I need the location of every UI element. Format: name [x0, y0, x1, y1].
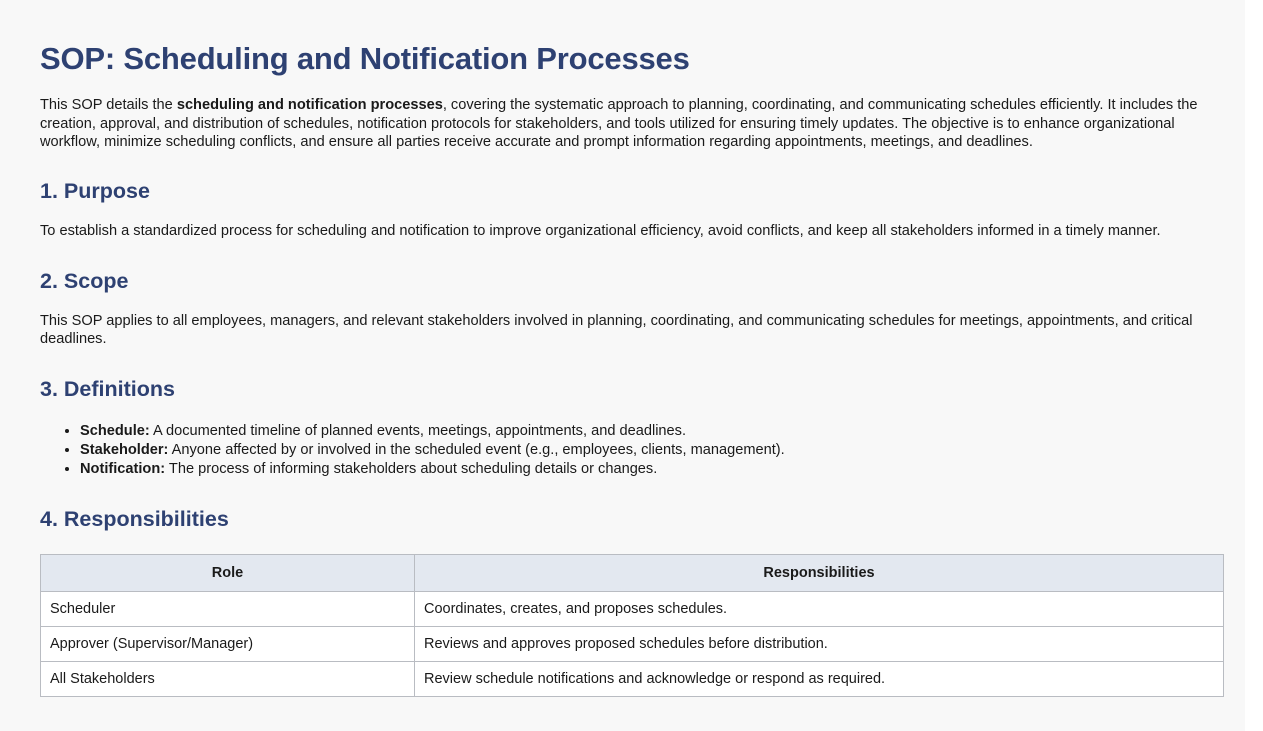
cell-role: Approver (Supervisor/Manager) [41, 627, 415, 662]
list-item: Schedule: A documented timeline of plann… [80, 422, 1222, 441]
definition-term: Schedule: [80, 423, 150, 439]
intro-text-pre: This SOP details the [40, 97, 177, 113]
section-body-purpose: To establish a standardized process for … [40, 222, 1222, 241]
definition-term: Notification: [80, 461, 165, 477]
list-item: Notification: The process of informing s… [80, 460, 1222, 479]
list-item: Stakeholder: Anyone affected by or invol… [80, 441, 1222, 460]
section-heading-responsibilities: 4. Responsibilities [40, 507, 1222, 533]
responsibilities-table: Role Responsibilities Scheduler Coordina… [40, 554, 1224, 697]
definition-text: The process of informing stakeholders ab… [165, 461, 657, 477]
definition-term: Stakeholder: [80, 442, 168, 458]
section-purpose: 1. Purpose To establish a standardized p… [40, 152, 1222, 241]
cell-responsibility: Coordinates, creates, and proposes sched… [415, 592, 1224, 627]
table-row: All Stakeholders Review schedule notific… [41, 662, 1224, 697]
intro-paragraph: This SOP details the scheduling and noti… [40, 96, 1222, 152]
section-scope: 2. Scope This SOP applies to all employe… [40, 241, 1222, 349]
column-header-role: Role [41, 555, 415, 592]
page-title: SOP: Scheduling and Notification Process… [40, 0, 1222, 79]
definition-text: A documented timeline of planned events,… [150, 423, 686, 439]
cell-role: Scheduler [41, 592, 415, 627]
intro-text-bold: scheduling and notification processes [177, 97, 443, 113]
column-header-responsibilities: Responsibilities [415, 555, 1224, 592]
table-body: Scheduler Coordinates, creates, and prop… [41, 592, 1224, 697]
cell-responsibility: Review schedule notifications and acknow… [415, 662, 1224, 697]
table-row: Scheduler Coordinates, creates, and prop… [41, 592, 1224, 627]
section-responsibilities: 4. Responsibilities Role Responsibilitie… [40, 479, 1222, 698]
cell-responsibility: Reviews and approves proposed schedules … [415, 627, 1224, 662]
section-heading-scope: 2. Scope [40, 269, 1222, 295]
document-page: SOP: Scheduling and Notification Process… [0, 0, 1245, 731]
section-body-scope: This SOP applies to all employees, manag… [40, 312, 1222, 350]
table-header: Role Responsibilities [41, 555, 1224, 592]
section-heading-purpose: 1. Purpose [40, 179, 1222, 205]
table-header-row: Role Responsibilities [41, 555, 1224, 592]
definitions-list: Schedule: A documented timeline of plann… [40, 422, 1222, 479]
definition-text: Anyone affected by or involved in the sc… [168, 442, 784, 458]
table-row: Approver (Supervisor/Manager) Reviews an… [41, 627, 1224, 662]
cell-role: All Stakeholders [41, 662, 415, 697]
section-heading-definitions: 3. Definitions [40, 377, 1222, 403]
section-definitions: 3. Definitions Schedule: A documented ti… [40, 349, 1222, 479]
